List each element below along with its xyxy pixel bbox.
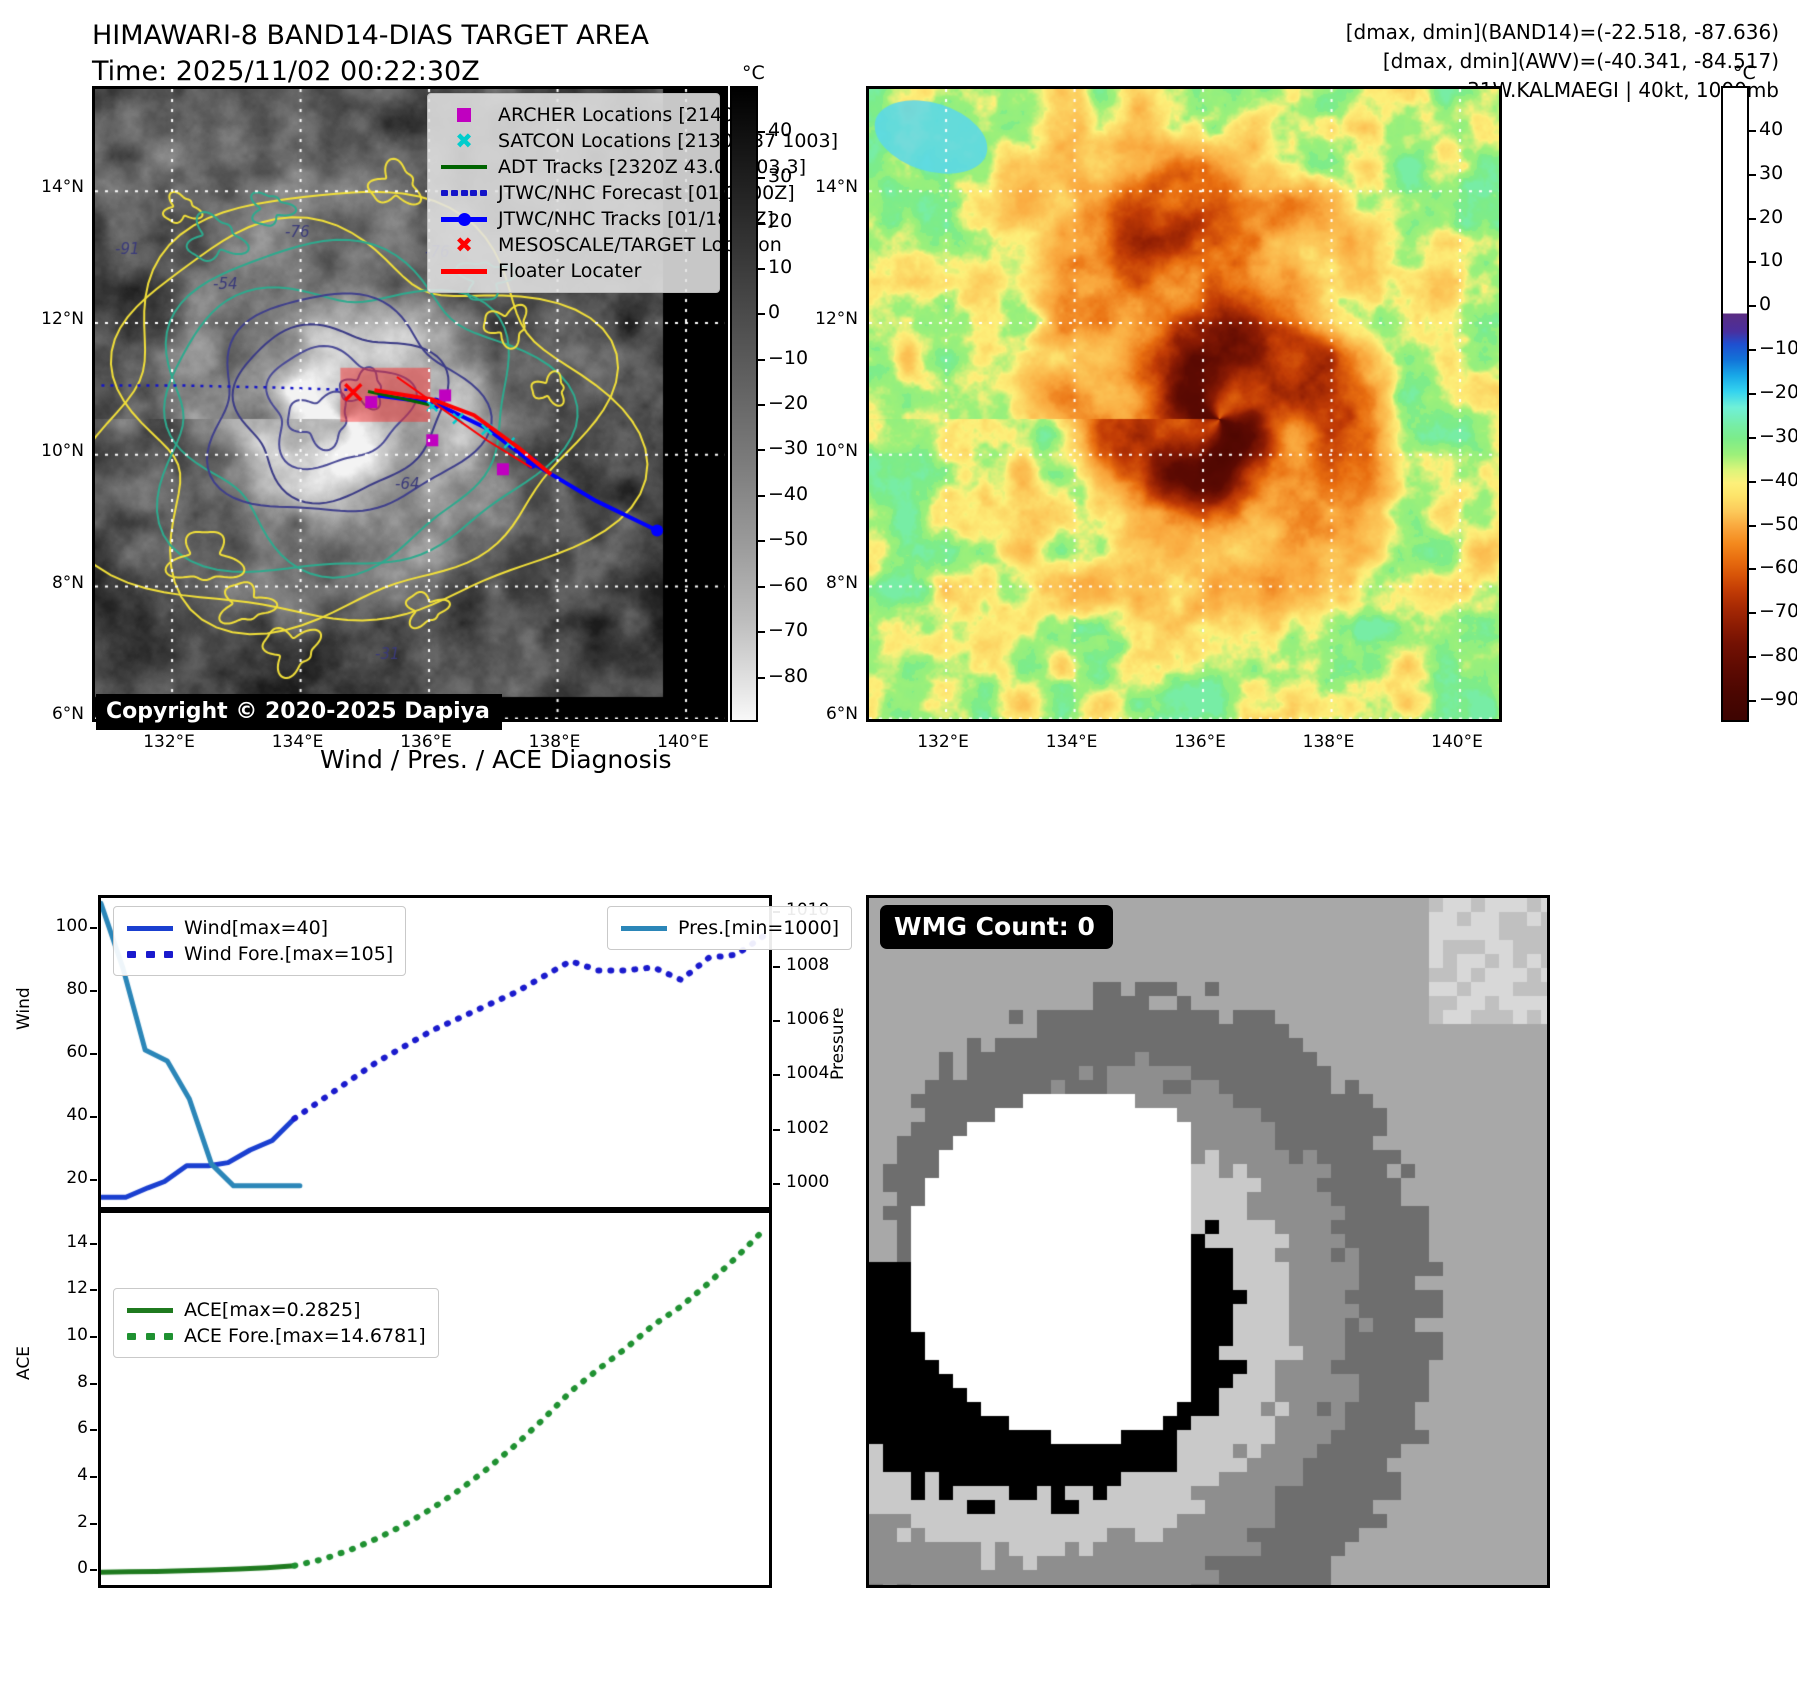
tick-label: 12 (36, 1278, 88, 1298)
ace-legend: ACE[max=0.2825] ACE Fore.[max=14.6781] (113, 1288, 439, 1358)
tick-label: 2 (36, 1512, 88, 1532)
tick-label: 1008 (786, 955, 846, 975)
colorbar-tick-mark (758, 131, 765, 133)
ace-axis-title: ACE (14, 1346, 34, 1380)
awv-colorbar-unit: °C (1733, 62, 1756, 84)
tick-label: 1000 (786, 1172, 846, 1192)
tick-mark (773, 1129, 780, 1131)
tick-mark (90, 990, 97, 992)
colorbar-tick-label: −50 (768, 528, 808, 550)
colorbar-tick-label: −90 (1759, 688, 1797, 710)
colorbar-tick-label: −40 (1759, 469, 1797, 491)
dotted-line-icon (124, 1333, 176, 1339)
x-marker-icon: ✖ (438, 131, 490, 152)
ir-colorbar-unit: °C (742, 62, 765, 84)
page-title-line2: Time: 2025/11/02 00:22:30Z (92, 56, 480, 87)
line-icon (438, 269, 490, 274)
line-icon (618, 926, 670, 931)
pressure-legend: Pres.[min=1000] (607, 906, 852, 950)
colorbar-tick-label: −70 (1759, 600, 1797, 622)
tick-label: 1006 (786, 1009, 846, 1029)
tick-label: 138°E (1299, 732, 1359, 752)
colorbar-tick-mark (758, 404, 765, 406)
colorbar-tick-mark (758, 177, 765, 179)
colorbar-tick-label: −80 (1759, 644, 1797, 666)
tick-mark (773, 1074, 780, 1076)
legend-label: Wind[max=40] (184, 917, 328, 939)
ir-colorbar (730, 86, 758, 722)
tick-label: 14°N (30, 177, 84, 197)
tick-label: 12°N (804, 309, 858, 329)
colorbar-tick-label: 20 (768, 210, 792, 232)
colorbar-tick-mark (1749, 261, 1756, 263)
legend-label: ARCHER Locations [2140Z] (498, 104, 755, 126)
tick-label: 8°N (30, 573, 84, 593)
colorbar-tick-label: −30 (1759, 425, 1797, 447)
legend-label: Floater Locater (498, 260, 641, 282)
colorbar-tick-mark (1749, 656, 1756, 658)
colorbar-tick-mark (758, 222, 765, 224)
legend-label: ACE[max=0.2825] (184, 1299, 361, 1321)
legend-label: ADT Tracks [2320Z 43.0 1003.3] (498, 156, 806, 178)
colorbar-tick-mark (758, 313, 765, 315)
colorbar-tick-mark (1749, 393, 1756, 395)
colorbar-tick-label: −70 (768, 619, 808, 641)
colorbar-tick-label: −10 (768, 347, 808, 369)
tick-label: 4 (36, 1465, 88, 1485)
colorbar-tick-mark (1749, 130, 1756, 132)
tick-label: 0 (36, 1558, 88, 1578)
tick-mark (773, 1020, 780, 1022)
tick-mark (90, 1116, 97, 1118)
colorbar-tick-label: −10 (1759, 337, 1797, 359)
tick-label: 12°N (30, 309, 84, 329)
legend-item-mesoscale-target[interactable]: ✖ MESOSCALE/TARGET Location (438, 232, 707, 258)
legend-item-jtwc-tracks[interactable]: JTWC/NHC Tracks [01/1800Z] (438, 206, 707, 232)
legend-item-wind-forecast[interactable]: Wind Fore.[max=105] (124, 941, 393, 967)
colorbar-tick-label: −60 (768, 574, 808, 596)
colorbar-tick-mark (758, 631, 765, 633)
legend-label: ACE Fore.[max=14.6781] (184, 1325, 426, 1347)
tick-label: 80 (36, 979, 88, 999)
legend-item-ace[interactable]: ACE[max=0.2825] (124, 1297, 426, 1323)
tick-mark (90, 1289, 97, 1291)
tick-mark (90, 927, 97, 929)
colorbar-tick-label: 10 (1759, 249, 1783, 271)
legend-item-jtwc-forecast[interactable]: JTWC/NHC Forecast [01/1800Z] (438, 180, 707, 206)
colorbar-tick-mark (1749, 218, 1756, 220)
colorbar-tick-mark (1749, 437, 1756, 439)
page-title: HIMAWARI-8 BAND14-DIAS TARGET AREA Time:… (92, 18, 649, 91)
tick-mark (90, 1243, 97, 1245)
tick-mark (90, 1179, 97, 1181)
ir-panel-legend: ARCHER Locations [2140Z] ✖ SATCON Locati… (427, 93, 720, 293)
colorbar-tick-label: −20 (1759, 381, 1797, 403)
colorbar-tick-mark (1749, 525, 1756, 527)
tick-label: 140°E (1427, 732, 1487, 752)
tick-label: 6 (36, 1418, 88, 1438)
tick-label: 1002 (786, 1118, 846, 1138)
diagnosis-title: Wind / Pres. / ACE Diagnosis (320, 745, 672, 774)
square-icon (438, 108, 490, 122)
colorbar-tick-mark (1749, 700, 1756, 702)
legend-label: Wind Fore.[max=105] (184, 943, 393, 965)
legend-item-wind[interactable]: Wind[max=40] (124, 915, 393, 941)
colorbar-tick-label: −80 (768, 665, 808, 687)
legend-item-floater-locater[interactable]: Floater Locater (438, 258, 707, 284)
tick-mark (90, 1053, 97, 1055)
colorbar-tick-label: 30 (1759, 162, 1783, 184)
dotted-line-icon (124, 951, 176, 957)
page-title-line1: HIMAWARI-8 BAND14-DIAS TARGET AREA (92, 20, 649, 51)
colorbar-tick-mark (758, 586, 765, 588)
colorbar-tick-label: 40 (1759, 118, 1783, 140)
colorbar-tick-label: 10 (768, 256, 792, 278)
tick-label: 132°E (913, 732, 973, 752)
colorbar-tick-mark (1749, 305, 1756, 307)
colorbar-tick-label: 20 (1759, 206, 1783, 228)
tick-label: 6°N (804, 704, 858, 724)
tick-mark (773, 1183, 780, 1185)
tick-label: 60 (36, 1042, 88, 1062)
tick-label: 10°N (30, 441, 84, 461)
line-icon (124, 1308, 176, 1313)
tick-mark (90, 1336, 97, 1338)
dotted-line-icon (438, 190, 490, 196)
x-marker-icon: ✖ (438, 235, 490, 256)
colorbar-tick-label: 0 (1759, 293, 1771, 315)
tick-mark (773, 966, 780, 968)
legend-item-archer[interactable]: ARCHER Locations [2140Z] (438, 102, 707, 128)
colorbar-tick-label: −60 (1759, 556, 1797, 578)
tick-label: 10°N (804, 441, 858, 461)
colorbar-tick-mark (1749, 612, 1756, 614)
tick-label: 132°E (139, 732, 199, 752)
colorbar-tick-label: −30 (768, 437, 808, 459)
colorbar-tick-label: −50 (1759, 513, 1797, 535)
tick-label: 100 (36, 916, 88, 936)
tick-label: 20 (36, 1168, 88, 1188)
colorbar-tick-label: 40 (768, 119, 792, 141)
tick-label: 8°N (804, 573, 858, 593)
line-icon (124, 926, 176, 931)
legend-item-pressure[interactable]: Pres.[min=1000] (618, 915, 839, 941)
tick-label: 14 (36, 1232, 88, 1252)
wmg-panel[interactable] (866, 895, 1550, 1588)
colorbar-tick-label: 30 (768, 165, 792, 187)
wmg-count-badge: WMG Count: 0 (880, 905, 1113, 949)
line-icon (438, 165, 490, 169)
copyright-notice: Copyright © 2020-2025 Dapiya (96, 694, 502, 730)
tick-label: 6°N (30, 704, 84, 724)
tick-mark (90, 1383, 97, 1385)
tick-label: 40 (36, 1105, 88, 1125)
colorbar-tick-label: −20 (768, 392, 808, 414)
tick-label: 136°E (1170, 732, 1230, 752)
tick-label: 14°N (804, 177, 858, 197)
colorbar-tick-mark (1749, 174, 1756, 176)
wind-legend: Wind[max=40] Wind Fore.[max=105] (113, 906, 406, 976)
wind-axis-title: Wind (14, 987, 34, 1030)
legend-item-adt-tracks[interactable]: ADT Tracks [2320Z 43.0 1003.3] (438, 154, 707, 180)
colorbar-tick-mark (1749, 481, 1756, 483)
tick-mark (90, 1429, 97, 1431)
tick-label: 10 (36, 1325, 88, 1345)
awv-satellite-panel[interactable] (866, 86, 1502, 722)
meta-band14-range: [dmax, dmin](BAND14)=(-22.518, -87.636) (1346, 20, 1779, 44)
tick-label: 1004 (786, 1063, 846, 1083)
colorbar-tick-mark (758, 449, 765, 451)
tick-label: 134°E (268, 732, 328, 752)
line-with-dot-icon (438, 217, 490, 222)
tick-mark (90, 1476, 97, 1478)
ace-plot-area (101, 1213, 775, 1591)
tick-label: 134°E (1042, 732, 1102, 752)
tick-mark (90, 1569, 97, 1571)
tick-label: 8 (36, 1372, 88, 1392)
colorbar-tick-mark (1749, 349, 1756, 351)
colorbar-tick-mark (758, 268, 765, 270)
legend-item-satcon[interactable]: ✖ SATCON Locations [2130Z 37 1003] (438, 128, 707, 154)
colorbar-tick-mark (1749, 568, 1756, 570)
legend-label: Pres.[min=1000] (678, 917, 839, 939)
legend-item-ace-forecast[interactable]: ACE Fore.[max=14.6781] (124, 1323, 426, 1349)
awv-colorbar (1721, 86, 1749, 722)
colorbar-tick-mark (758, 677, 765, 679)
colorbar-tick-mark (758, 540, 765, 542)
colorbar-tick-label: −40 (768, 483, 808, 505)
tick-mark (90, 1523, 97, 1525)
colorbar-tick-label: 0 (768, 301, 780, 323)
meta-awv-range: [dmax, dmin](AWV)=(-40.341, -84.517) (1383, 49, 1779, 73)
colorbar-tick-mark (758, 359, 765, 361)
colorbar-tick-mark (758, 495, 765, 497)
